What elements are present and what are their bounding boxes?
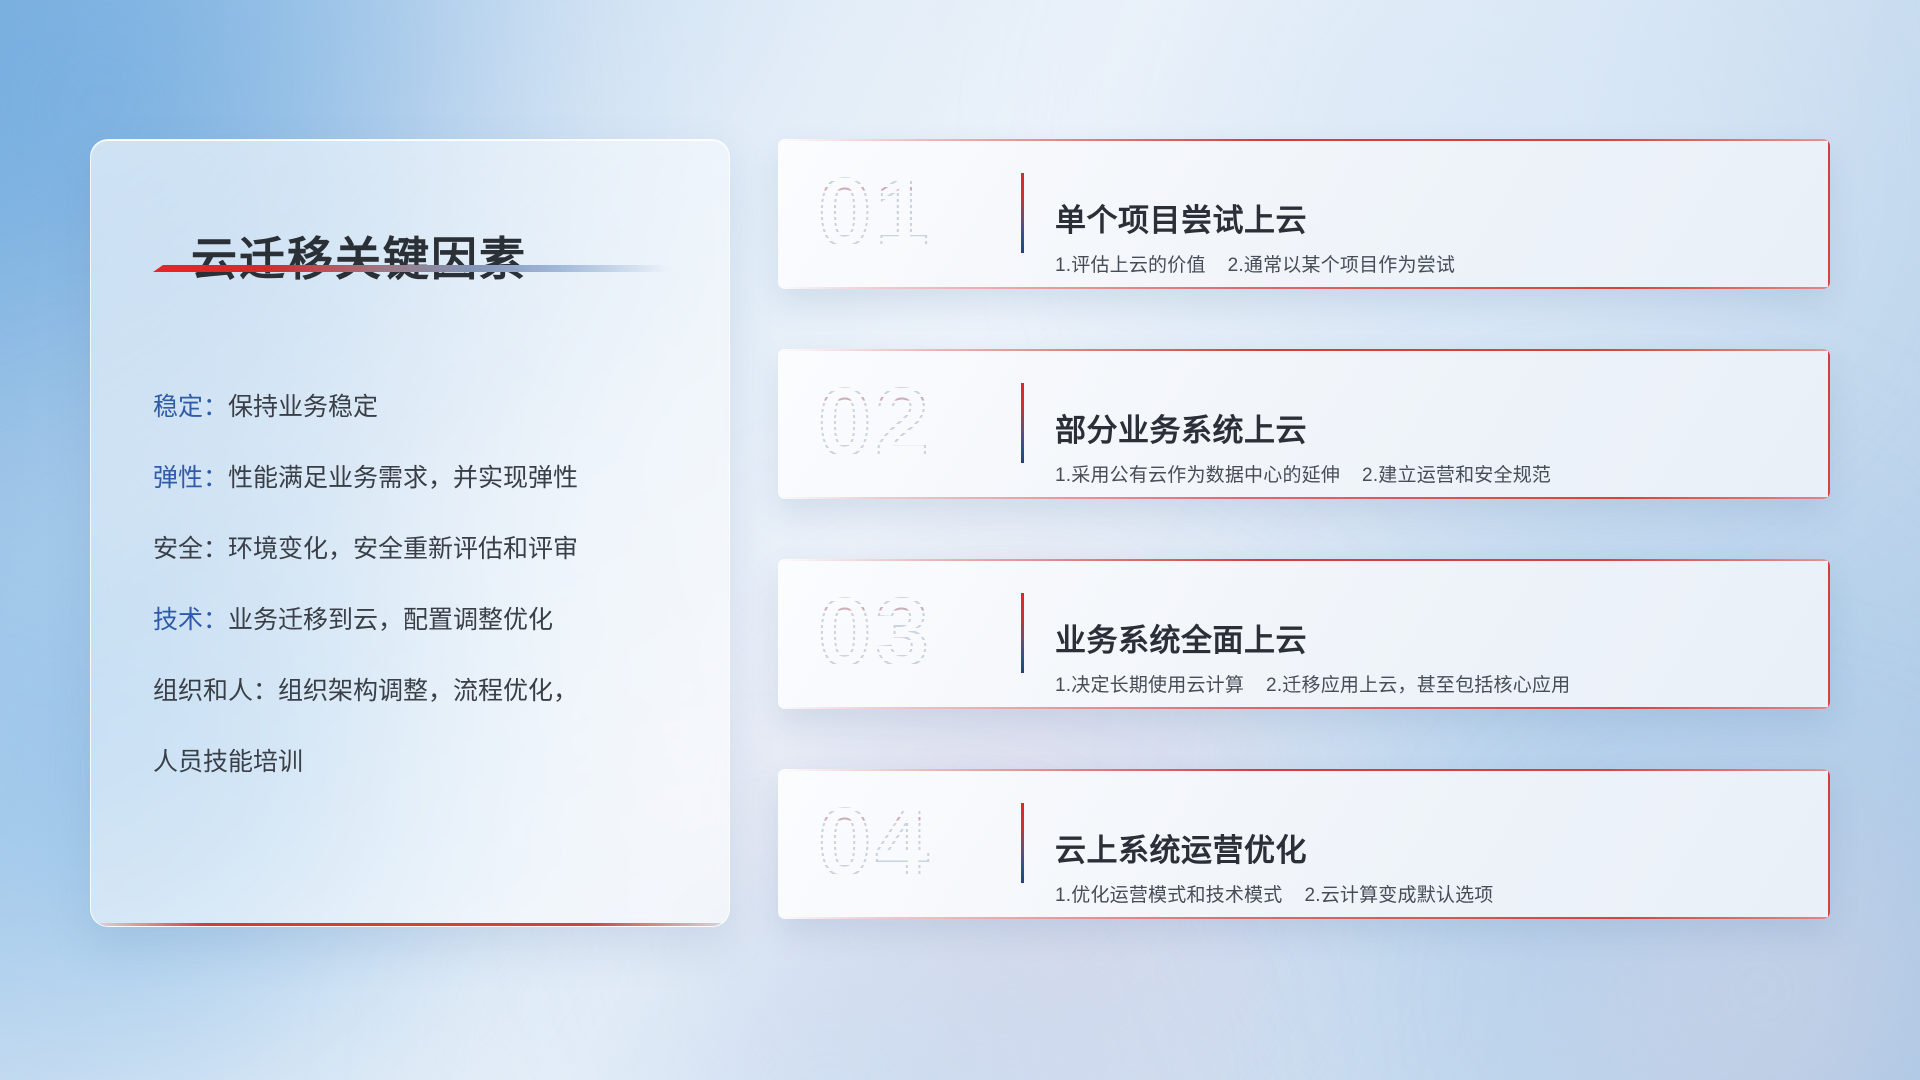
fact-label: 组织和人： — [153, 677, 278, 705]
stage-number-watermark-tint: 03 — [818, 577, 988, 689]
stage-number-watermark-tint: 01 — [818, 157, 988, 269]
stage-title: 云上系统运营优化 — [1055, 825, 1307, 870]
stage-card[interactable]: 04 04 云上系统运营优化 1.优化运营模式和技术模式2.云计算变成默认选项 — [778, 769, 1830, 919]
stage-description: 1.优化运营模式和技术模式2.云计算变成默认选项 — [1055, 880, 1494, 907]
stage-title: 部分业务系统上云 — [1055, 405, 1307, 450]
stage-number-watermark-tint: 04 — [818, 787, 988, 899]
key-factors-panel: 云迁移关键因素 稳定：保持业务稳定 弹性：性能满足业务需求，并实现弹性 安全：环… — [90, 139, 730, 927]
fact-label: 安全： — [153, 535, 228, 563]
migration-stages-list: 01 01 单个项目尝试上云 1.评估上云的价值2.通常以某个项目作为尝试 02… — [778, 139, 1830, 979]
list-item: 安全：环境变化，安全重新评估和评审 — [153, 537, 691, 562]
list-item: 组织和人：组织架构调整，流程优化， 人员技能培训 — [153, 679, 691, 775]
stage-divider-bar — [1021, 173, 1024, 253]
stage-description-part: 1.决定长期使用云计算 — [1055, 675, 1244, 696]
fact-value: 组织架构调整，流程优化， — [278, 677, 578, 705]
stage-description-part: 1.评估上云的价值 — [1055, 255, 1206, 276]
stage-title: 业务系统全面上云 — [1055, 615, 1307, 660]
fact-value: 性能满足业务需求，并实现弹性 — [228, 464, 578, 492]
stage-description-part: 2.建立运营和安全规范 — [1362, 465, 1551, 486]
stage-title: 单个项目尝试上云 — [1055, 195, 1307, 240]
stage-description-part: 1.采用公有云作为数据中心的延伸 — [1055, 465, 1340, 486]
fact-label: 技术： — [153, 606, 228, 634]
stage-divider-bar — [1021, 803, 1024, 883]
fact-label: 弹性： — [153, 464, 228, 492]
stage-description-part: 2.云计算变成默认选项 — [1304, 885, 1493, 906]
card-right-accent — [1828, 559, 1830, 709]
stage-description-part: 2.迁移应用上云，甚至包括核心应用 — [1266, 675, 1570, 696]
stage-card[interactable]: 01 01 单个项目尝试上云 1.评估上云的价值2.通常以某个项目作为尝试 — [778, 139, 1830, 289]
stage-description: 1.评估上云的价值2.通常以某个项目作为尝试 — [1055, 250, 1455, 277]
stage-divider-bar — [1021, 593, 1024, 673]
card-right-accent — [1828, 769, 1830, 919]
fact-value: 保持业务稳定 — [228, 393, 378, 421]
stage-card[interactable]: 03 03 业务系统全面上云 1.决定长期使用云计算2.迁移应用上云，甚至包括核… — [778, 559, 1830, 709]
fact-value-continuation: 人员技能培训 — [153, 750, 691, 775]
stage-description-part: 2.通常以某个项目作为尝试 — [1228, 255, 1455, 276]
card-right-accent — [1828, 349, 1830, 499]
title-underline-gradient — [153, 265, 669, 272]
list-item: 稳定：保持业务稳定 — [153, 395, 691, 420]
stage-description: 1.决定长期使用云计算2.迁移应用上云，甚至包括核心应用 — [1055, 670, 1570, 697]
fact-label: 稳定： — [153, 393, 228, 421]
stage-card[interactable]: 02 02 部分业务系统上云 1.采用公有云作为数据中心的延伸2.建立运营和安全… — [778, 349, 1830, 499]
stage-description: 1.采用公有云作为数据中心的延伸2.建立运营和安全规范 — [1055, 460, 1551, 487]
stage-number-watermark-tint: 02 — [818, 367, 988, 479]
list-item: 技术：业务迁移到云，配置调整优化 — [153, 608, 691, 633]
stage-divider-bar — [1021, 383, 1024, 463]
stage-description-part: 1.优化运营模式和技术模式 — [1055, 885, 1282, 906]
fact-value: 业务迁移到云，配置调整优化 — [228, 606, 553, 634]
list-item: 弹性：性能满足业务需求，并实现弹性 — [153, 466, 691, 491]
card-right-accent — [1828, 139, 1830, 289]
key-factors-list: 稳定：保持业务稳定 弹性：性能满足业务需求，并实现弹性 安全：环境变化，安全重新… — [153, 370, 691, 821]
panel-title: 云迁移关键因素 — [191, 223, 527, 289]
fact-value: 环境变化，安全重新评估和评审 — [228, 535, 578, 563]
